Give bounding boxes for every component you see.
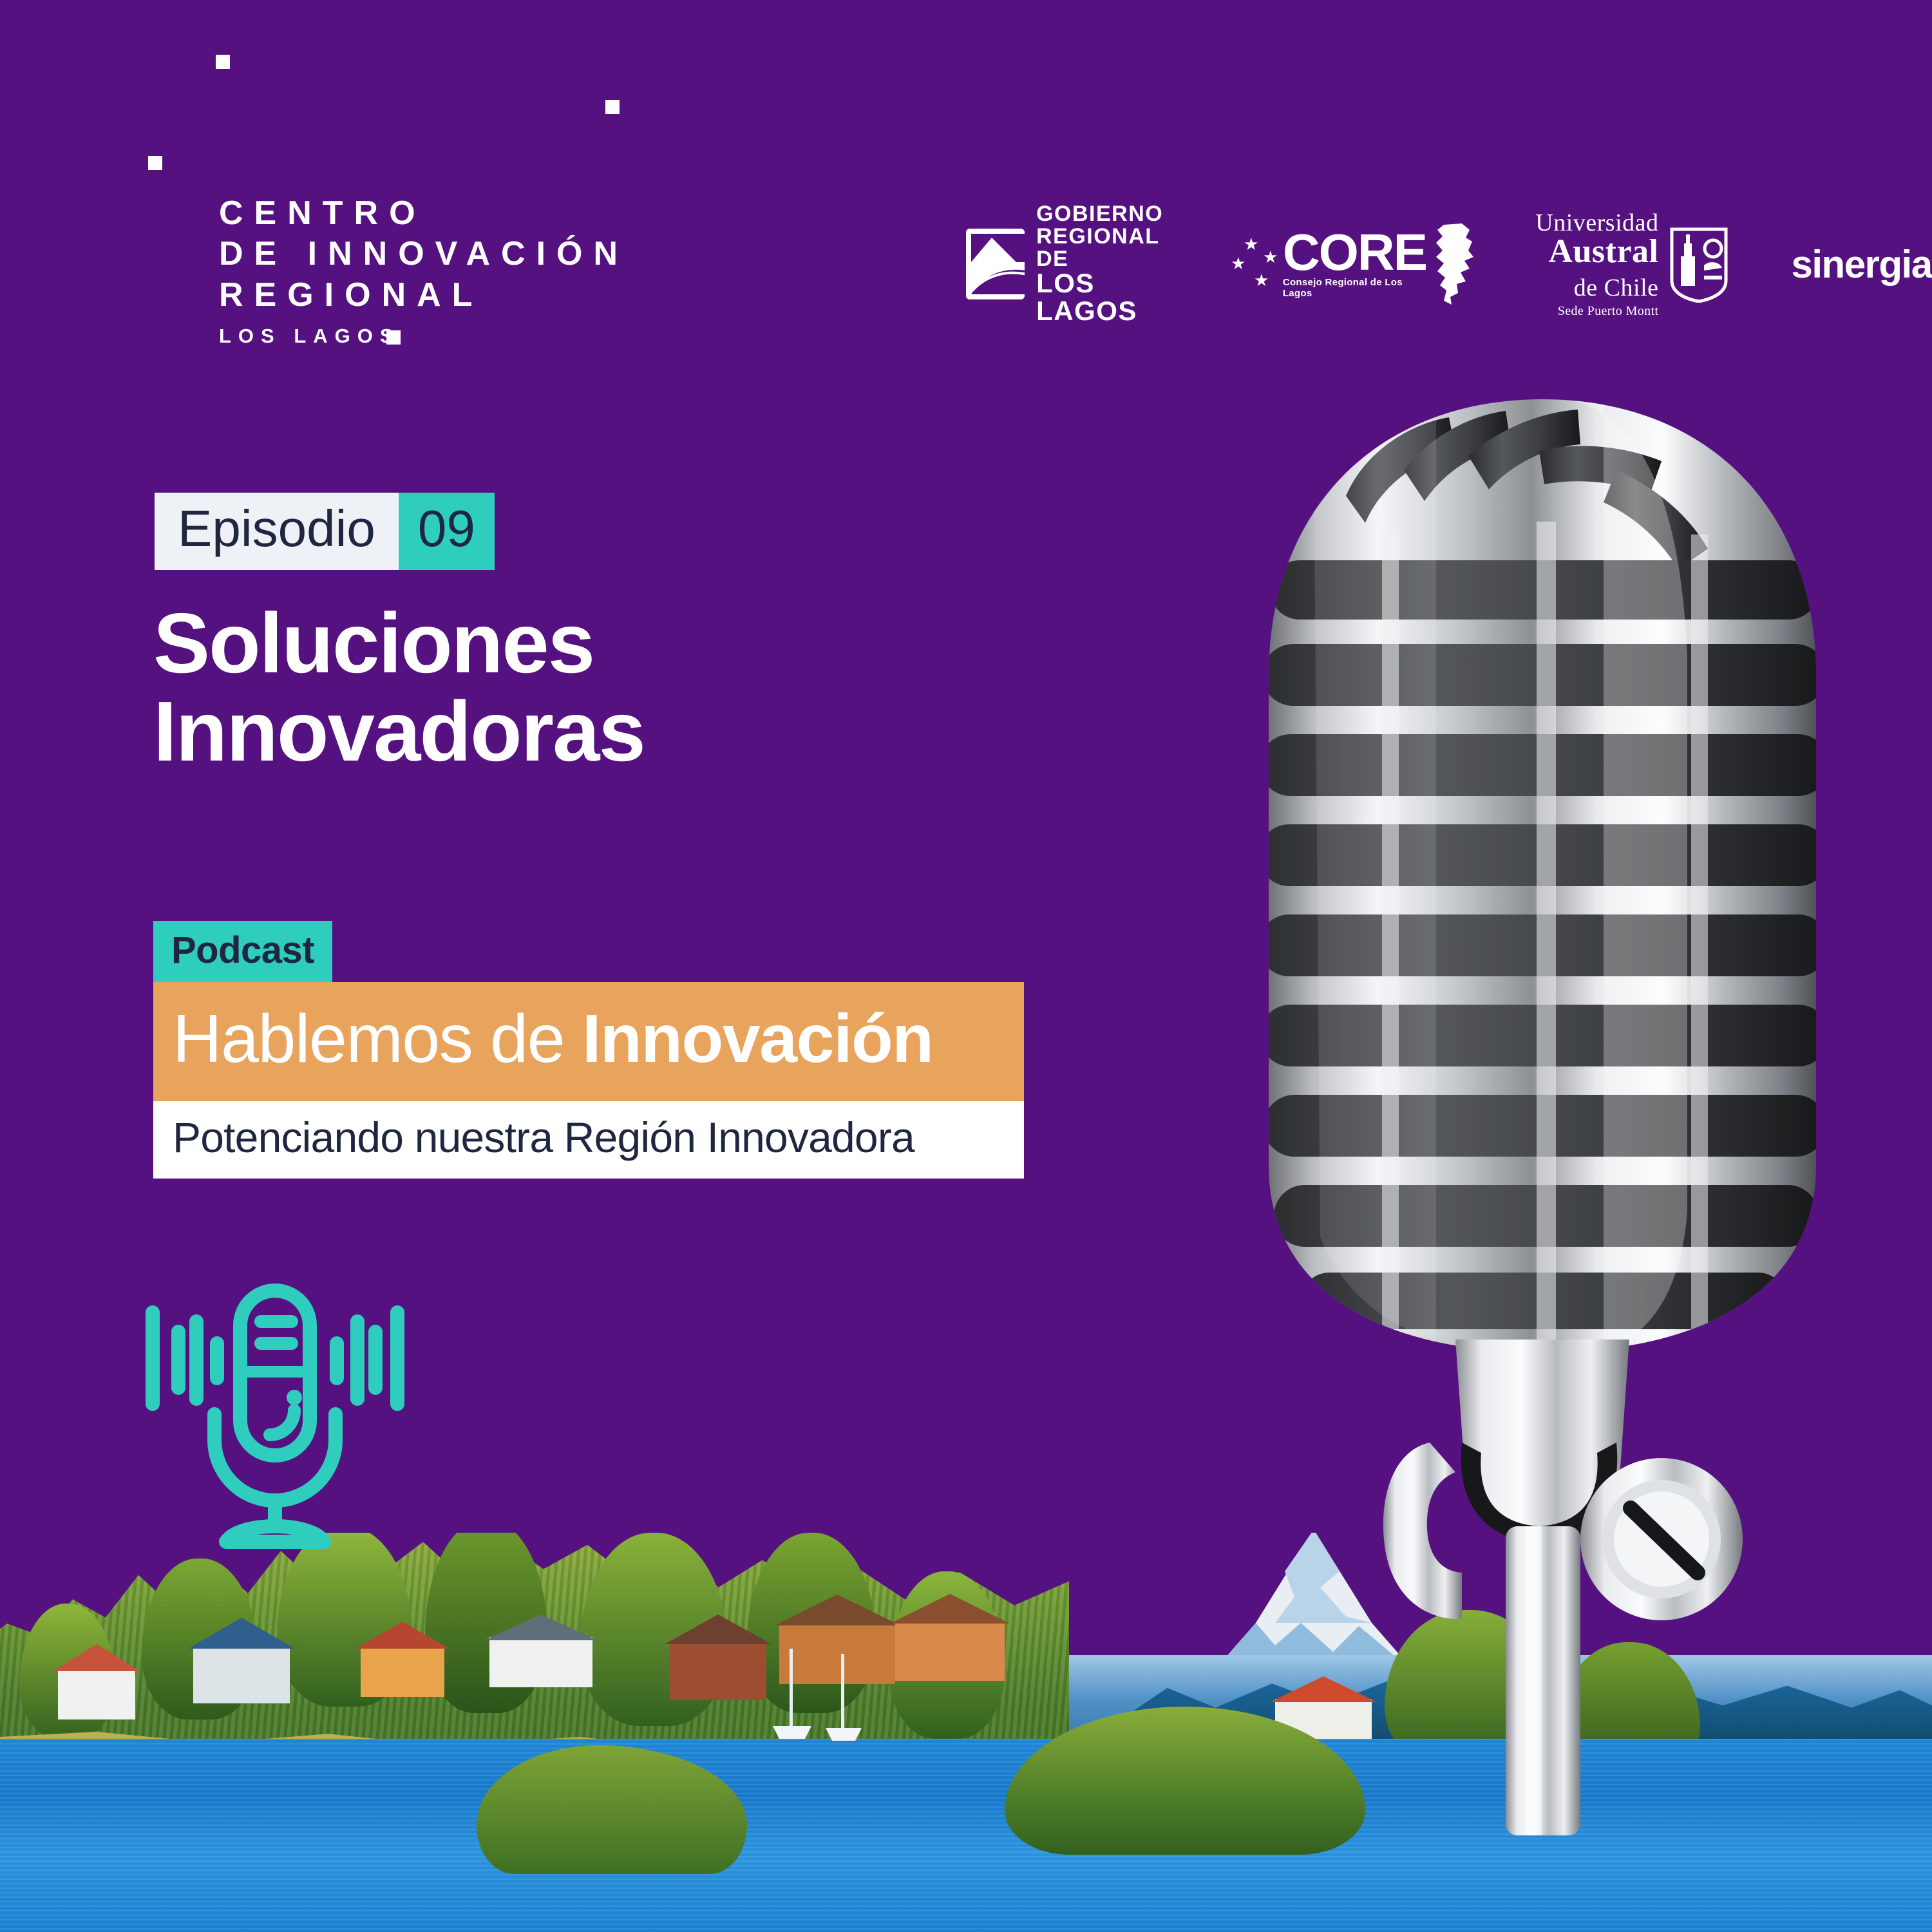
- podcast-cover: CENTRO DE INNOVACIÓN REGIONAL LOS LAGOS …: [0, 0, 1932, 1932]
- podcast-name-light: Hablemos de: [173, 1001, 582, 1077]
- episode-number: 09: [399, 493, 495, 570]
- podcast-tag: Podcast: [153, 921, 332, 982]
- mountain-lake-mark-icon: [966, 229, 1025, 299]
- village-house: [489, 1637, 592, 1687]
- sponsor-core: ★ ★ ★ ★ CORE Consejo Regional de Los Lag…: [1227, 222, 1480, 306]
- logo-dot-square: [148, 156, 162, 170]
- title-line-1: Soluciones: [153, 599, 645, 687]
- uach-line-2: Austral de Chile: [1535, 235, 1658, 302]
- logo-dot-square: [605, 100, 620, 114]
- uach-line-3: Sede Puerto Montt: [1535, 305, 1658, 317]
- uach-austral: Austral: [1548, 233, 1658, 270]
- uach-text: Universidad Austral de Chile Sede Puerto…: [1535, 211, 1658, 317]
- village-house: [895, 1620, 1005, 1681]
- podcast-microphone-waveform-icon: [132, 1282, 415, 1552]
- podcast-block: Podcast Hablemos de Innovación Potencian…: [153, 921, 1024, 1179]
- episode-label: Episodio: [155, 493, 399, 570]
- core-wordmark: CORE: [1283, 229, 1428, 276]
- retro-condenser-microphone-icon: [1153, 374, 1932, 1835]
- region-silhouette-icon: [1432, 222, 1480, 306]
- cir-line-1: CENTRO: [219, 193, 683, 234]
- uach-dechile: de Chile: [1574, 274, 1659, 301]
- sailboat: [818, 1651, 869, 1750]
- gobierno-line-3: LOS LAGOS: [1036, 270, 1175, 325]
- sponsor-uach: Universidad Austral de Chile Sede Puerto…: [1535, 211, 1729, 317]
- sailboat: [766, 1649, 818, 1748]
- village-house: [58, 1668, 135, 1719]
- episode-badge: Episodio 09: [155, 493, 495, 570]
- cir-line-2: DE INNOVACIÓN: [219, 234, 683, 274]
- uach-line-1: Universidad: [1535, 211, 1658, 235]
- uach-crest-icon: [1668, 225, 1730, 303]
- podcast-tagline: Potenciando nuestra Región Innovadora: [153, 1101, 1024, 1179]
- cir-line-3: REGIONAL: [219, 275, 683, 316]
- page-title: Soluciones Innovadoras: [153, 599, 645, 776]
- podcast-name: Hablemos de Innovación: [153, 982, 1024, 1101]
- sponsor-logo-row: GOBIERNO REGIONAL DE LOS LAGOS ★ ★ ★ ★ C…: [966, 213, 1880, 316]
- title-line-2: Innovadoras: [153, 687, 645, 775]
- gobierno-line-2: REGIONAL DE: [1036, 225, 1175, 270]
- four-stars-icon: ★ ★ ★ ★: [1227, 232, 1276, 296]
- village-house: [670, 1641, 766, 1700]
- gobierno-line-1: GOBIERNO: [1036, 203, 1175, 225]
- podcast-name-bold: Innovación: [582, 1001, 933, 1077]
- village-house: [361, 1645, 444, 1697]
- cir-logo: CENTRO DE INNOVACIÓN REGIONAL LOS LAGOS: [219, 193, 683, 348]
- cir-subtitle: LOS LAGOS: [219, 325, 683, 348]
- logo-dot-square: [216, 55, 230, 69]
- gobierno-text: GOBIERNO REGIONAL DE LOS LAGOS: [1036, 203, 1175, 325]
- logo-dot-square: [386, 330, 401, 345]
- sponsor-sinergiame: sinergiame: [1792, 242, 1932, 287]
- sponsor-gobierno-regional: GOBIERNO REGIONAL DE LOS LAGOS: [966, 203, 1175, 325]
- village-house: [193, 1645, 290, 1703]
